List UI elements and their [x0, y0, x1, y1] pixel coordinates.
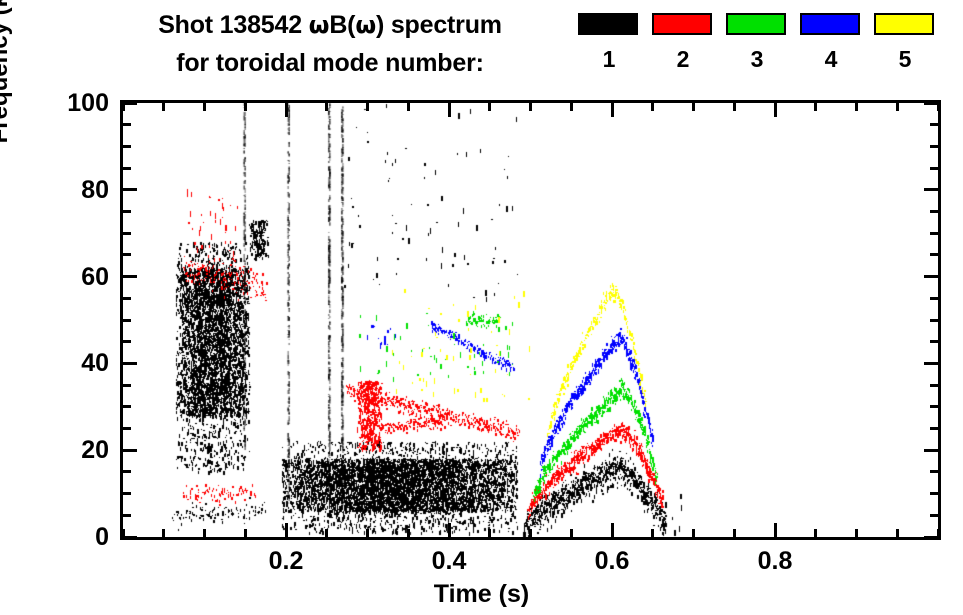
x-tick-top-0.40 [448, 103, 451, 117]
x-axis-label: Time (s) [0, 580, 963, 609]
spectrogram-figure: Shot 138542 ωB(ω) spectrum for toroidal … [0, 0, 963, 615]
title-line-2: for toroidal mode number: [95, 44, 565, 82]
y-tick-5 [123, 514, 131, 517]
y-tick-label-0: 0 [39, 525, 109, 550]
x-tick-0.90 [855, 529, 858, 537]
y-tick-right-5 [930, 514, 938, 517]
legend-label-4: 4 [800, 46, 862, 72]
y-tick-right-0 [924, 536, 938, 539]
x-tick-0.95 [896, 529, 899, 537]
legend-swatch-yellow [874, 13, 934, 35]
x-tick-0.15 [244, 529, 247, 537]
y-tick-right-15 [930, 470, 938, 473]
y-tick-30 [123, 405, 131, 408]
legend-swatch-red [652, 13, 712, 35]
y-tick-95 [123, 123, 131, 126]
mode-number-legend: 12345 [578, 13, 953, 85]
x-tick-top-0.10 [203, 103, 206, 111]
x-tick-0.65 [651, 529, 654, 537]
y-tick-right-50 [930, 319, 938, 322]
y-tick-right-25 [930, 427, 938, 430]
plot-area: 0204060801000.20.40.60.8 [120, 100, 941, 540]
title-line-1: Shot 138542 ωB(ω) spectrum [95, 6, 565, 44]
title-spectrum-text: ) spectrum [376, 11, 502, 39]
y-tick-right-45 [930, 340, 938, 343]
title-shot-text: Shot 138542 [158, 11, 308, 39]
legend-swatch-blue [800, 13, 860, 35]
y-tick-40 [123, 362, 137, 365]
x-tick-top-0.15 [244, 103, 247, 111]
x-tick-top-0.50 [529, 103, 532, 111]
y-tick-label-40: 40 [39, 351, 109, 376]
x-tick-label-0.4: 0.4 [404, 549, 494, 574]
y-tick-label-80: 80 [39, 178, 109, 203]
x-tick-0.45 [488, 529, 491, 537]
x-tick-0.85 [814, 529, 817, 537]
y-tick-25 [123, 427, 131, 430]
legend-item-2: 2 [652, 13, 714, 72]
legend-item-3: 3 [726, 13, 788, 72]
omega-symbol-2: ω [355, 11, 376, 39]
legend-label-1: 1 [578, 46, 640, 72]
y-tick-90 [123, 145, 131, 148]
x-tick-0.10 [203, 529, 206, 537]
x-tick-0.35 [407, 529, 410, 537]
legend-item-5: 5 [874, 13, 936, 72]
x-tick-0.50 [529, 529, 532, 537]
spectrogram-canvas [123, 103, 938, 537]
y-tick-right-75 [930, 210, 938, 213]
y-tick-15 [123, 470, 131, 473]
x-tick-top-0.85 [814, 103, 817, 111]
x-tick-0.80 [774, 523, 777, 537]
x-tick-top-0.80 [774, 103, 777, 117]
x-tick-top-0.45 [488, 103, 491, 111]
x-tick-top-0.05 [162, 103, 165, 111]
x-tick-0.25 [325, 529, 328, 537]
x-tick-top-0.95 [896, 103, 899, 111]
x-tick-top-0.70 [692, 103, 695, 111]
y-tick-right-80 [924, 188, 938, 191]
y-tick-35 [123, 384, 131, 387]
y-tick-label-60: 60 [39, 265, 109, 290]
x-tick-top-0.20 [285, 103, 288, 117]
x-tick-0.30 [366, 529, 369, 537]
x-tick-0.20 [285, 523, 288, 537]
y-tick-label-100: 100 [39, 91, 109, 116]
y-tick-right-70 [930, 232, 938, 235]
y-tick-65 [123, 253, 131, 256]
omega-symbol-1: ω [309, 11, 330, 39]
y-tick-right-35 [930, 384, 938, 387]
x-tick-0.75 [733, 529, 736, 537]
x-tick-top-0.55 [570, 103, 573, 111]
x-tick-top-0.25 [325, 103, 328, 111]
legend-label-3: 3 [726, 46, 788, 72]
y-tick-right-55 [930, 297, 938, 300]
x-tick-0.60 [611, 523, 614, 537]
x-tick-0.70 [692, 529, 695, 537]
figure-title: Shot 138542 ωB(ω) spectrum for toroidal … [95, 6, 565, 82]
y-tick-80 [123, 188, 137, 191]
y-tick-right-10 [930, 492, 938, 495]
legend-swatch-green [726, 13, 786, 35]
legend-item-4: 4 [800, 13, 862, 72]
x-tick-top-0.75 [733, 103, 736, 111]
y-tick-60 [123, 275, 137, 278]
y-tick-right-90 [930, 145, 938, 148]
legend-label-5: 5 [874, 46, 936, 72]
title-b-open: B( [329, 11, 355, 39]
x-tick-top-0.90 [855, 103, 858, 111]
y-tick-20 [123, 449, 137, 452]
y-tick-right-65 [930, 253, 938, 256]
y-tick-50 [123, 319, 131, 322]
y-axis-label: Frequency (kHz) [0, 0, 14, 190]
y-tick-right-95 [930, 123, 938, 126]
y-tick-right-100 [924, 102, 938, 105]
x-tick-top-0.30 [366, 103, 369, 111]
y-tick-55 [123, 297, 131, 300]
x-tick-label-0.8: 0.8 [730, 549, 820, 574]
y-tick-right-40 [924, 362, 938, 365]
y-tick-right-85 [930, 167, 938, 170]
x-tick-top-0.60 [611, 103, 614, 117]
x-tick-0.55 [570, 529, 573, 537]
x-tick-0.40 [448, 523, 451, 537]
y-tick-70 [123, 232, 131, 235]
x-tick-top-0.65 [651, 103, 654, 111]
legend-item-1: 1 [578, 13, 640, 72]
x-tick-top-0.35 [407, 103, 410, 111]
legend-label-2: 2 [652, 46, 714, 72]
legend-swatch-black [578, 13, 638, 35]
y-tick-label-20: 20 [39, 438, 109, 463]
y-tick-85 [123, 167, 131, 170]
y-tick-0 [123, 536, 137, 539]
x-tick-0.05 [162, 529, 165, 537]
y-tick-45 [123, 340, 131, 343]
x-tick-label-0.2: 0.2 [241, 549, 331, 574]
y-tick-10 [123, 492, 131, 495]
y-tick-100 [123, 102, 137, 105]
x-tick-label-0.6: 0.6 [567, 549, 657, 574]
y-tick-75 [123, 210, 131, 213]
y-tick-right-20 [924, 449, 938, 452]
y-tick-right-30 [930, 405, 938, 408]
y-tick-right-60 [924, 275, 938, 278]
